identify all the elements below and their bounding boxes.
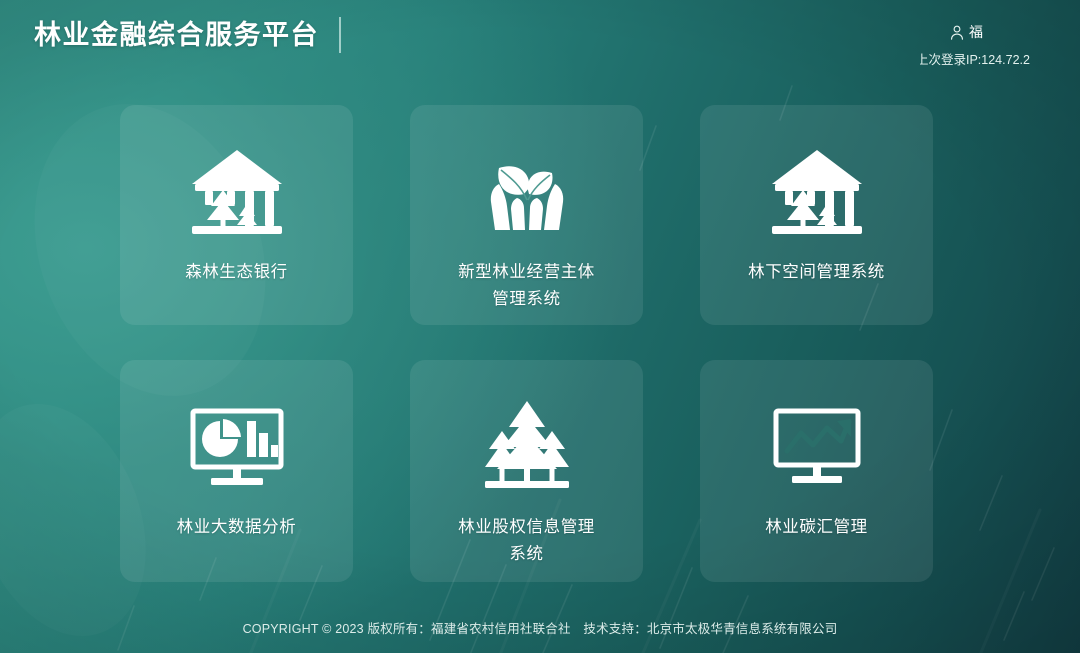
module-card-label: 森林生态银行 — [185, 259, 288, 286]
pine-trees-icon — [474, 394, 580, 500]
module-card-forestry-carbon-sink-mgmt[interactable]: 林业碳汇管理 — [700, 360, 933, 582]
title-divider — [339, 17, 341, 53]
bank-tree-icon — [184, 139, 290, 245]
module-card-forestry-equity-info-mgmt[interactable]: 林业股权信息管理 系统 — [410, 360, 643, 582]
page-header: 林业金融综合服务平台 福 上次登录IP:124.72.2 — [0, 0, 1080, 80]
footer-copyright: COPYRIGHT © 2023 版权所有：福建省农村信用社联合社 技术支持：北… — [0, 618, 1080, 637]
module-card-label: 林下空间管理系统 — [748, 259, 885, 286]
user-profile[interactable]: 福 — [950, 22, 1080, 42]
module-card-label: 林业大数据分析 — [177, 514, 297, 541]
module-card-new-forestry-entity-mgmt[interactable]: 新型林业经营主体 管理系统 — [410, 105, 643, 325]
last-login-ip: 上次登录IP:124.72.2 — [920, 49, 1080, 68]
monitor-trend-icon — [764, 394, 870, 500]
brand: 林业金融综合服务平台 — [34, 16, 341, 54]
module-card-understory-space-mgmt[interactable]: 林下空间管理系统 — [700, 105, 933, 325]
module-card-forestry-big-data-analysis[interactable]: 林业大数据分析 — [120, 360, 353, 582]
user-icon — [950, 25, 964, 40]
monitor-charts-icon — [184, 394, 290, 500]
module-grid: 森林生态银行 新型林业经营主体 管理系统 — [120, 105, 932, 582]
module-card-label: 林业股权信息管理 系统 — [458, 514, 595, 568]
bank-tree-icon — [764, 139, 870, 245]
page-title: 林业金融综合服务平台 — [34, 16, 319, 54]
user-area: 福 上次登录IP:124.72.2 — [920, 22, 1080, 68]
hands-leaves-icon — [474, 139, 580, 245]
user-name: 福 — [969, 22, 983, 42]
module-card-forest-eco-bank[interactable]: 森林生态银行 — [120, 105, 353, 325]
module-card-label: 林业碳汇管理 — [765, 514, 868, 541]
module-card-label: 新型林业经营主体 管理系统 — [458, 259, 595, 313]
